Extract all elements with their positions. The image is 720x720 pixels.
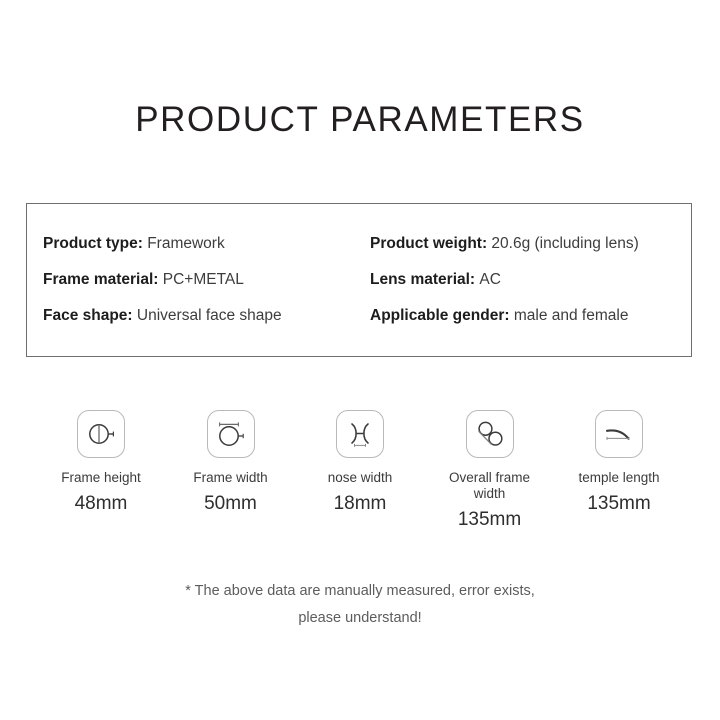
spec-value: 20.6g (including lens) (491, 235, 638, 252)
nose-width-icon (336, 410, 384, 458)
measurement-value: 48mm (75, 493, 128, 515)
page-title: PRODUCT PARAMETERS (0, 98, 720, 142)
spec-value: Framework (147, 235, 225, 252)
measurement-overall-frame-width: Overall frame width 135mm (429, 410, 551, 531)
spec-row: Product type: Framework Product weight: … (43, 226, 677, 262)
overall-frame-width-icon (466, 410, 514, 458)
spec-applicable-gender: Applicable gender: male and female (370, 306, 677, 326)
spec-frame-material: Frame material: PC+METAL (43, 270, 370, 290)
footnote: * The above data are manually measured, … (0, 578, 720, 632)
temple-length-icon (595, 410, 643, 458)
measurement-frame-height: Frame height 48mm (40, 410, 162, 531)
measurement-label: Frame width (193, 470, 267, 486)
spec-key: Product type: (43, 235, 147, 252)
measurement-value: 18mm (334, 493, 387, 515)
specification-box: Product type: Framework Product weight: … (26, 203, 692, 357)
spec-key: Product weight: (370, 235, 491, 252)
measurement-label: Overall frame width (446, 470, 534, 502)
spec-product-type: Product type: Framework (43, 234, 370, 254)
spec-key: Lens material: (370, 271, 479, 288)
footnote-line-2: please understand! (0, 605, 720, 632)
measurement-label: temple length (578, 470, 659, 486)
spec-value: Universal face shape (137, 307, 282, 324)
spec-row: Face shape: Universal face shape Applica… (43, 298, 677, 334)
spec-face-shape: Face shape: Universal face shape (43, 306, 370, 326)
footnote-line-1: * The above data are manually measured, … (0, 578, 720, 605)
measurement-frame-width: Frame width 50mm (170, 410, 292, 531)
measurement-nose-width: nose width 18mm (299, 410, 421, 531)
spec-key: Frame material: (43, 271, 163, 288)
spec-value: AC (479, 271, 501, 288)
measurement-label: nose width (328, 470, 393, 486)
spec-lens-material: Lens material: AC (370, 270, 677, 290)
spec-value: male and female (514, 307, 629, 324)
spec-key: Applicable gender: (370, 307, 514, 324)
measurement-row: Frame height 48mm Frame width 50mm (40, 410, 680, 531)
frame-height-icon (77, 410, 125, 458)
measurement-value: 50mm (204, 493, 257, 515)
spec-row: Frame material: PC+METAL Lens material: … (43, 262, 677, 298)
measurement-value: 135mm (458, 509, 521, 531)
measurement-label: Frame height (61, 470, 141, 486)
spec-value: PC+METAL (163, 271, 244, 288)
frame-width-icon (207, 410, 255, 458)
spec-key: Face shape: (43, 307, 137, 324)
measurement-value: 135mm (587, 493, 650, 515)
measurement-temple-length: temple length 135mm (558, 410, 680, 531)
spec-product-weight: Product weight: 20.6g (including lens) (370, 234, 677, 254)
